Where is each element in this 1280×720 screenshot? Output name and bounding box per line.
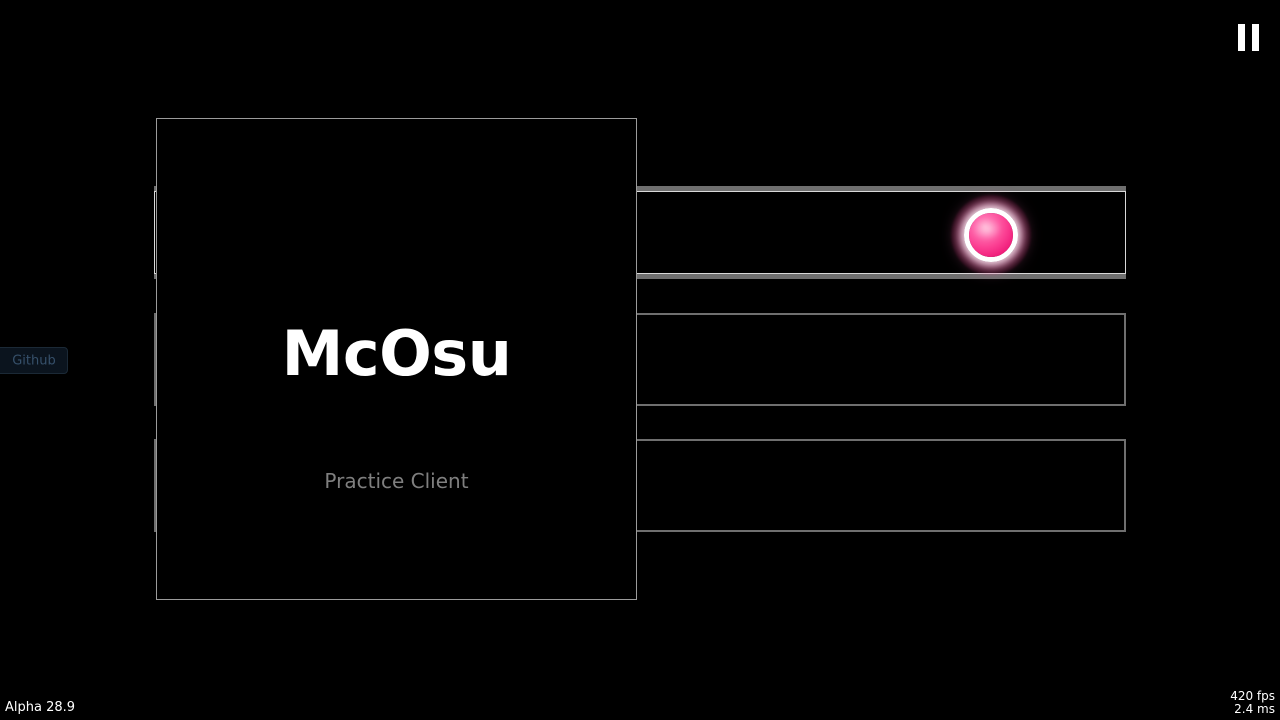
pause-icon[interactable]: [1235, 22, 1263, 52]
pause-bar-right: [1252, 24, 1259, 51]
game-screen: Play Options Exit McOsu Practice Client …: [0, 0, 1280, 720]
github-button-label: Github: [0, 354, 67, 367]
app-title: McOsu: [157, 323, 636, 385]
fps-counter: 420 fps 2.4 ms: [1230, 690, 1275, 716]
logo-panel[interactable]: McOsu Practice Client: [156, 118, 637, 600]
version-label: Alpha 28.9: [5, 701, 75, 714]
pause-bar-left: [1238, 24, 1245, 51]
app-subtitle: Practice Client: [157, 471, 636, 491]
github-button[interactable]: Github: [0, 347, 68, 374]
frametime-value: 2.4 ms: [1230, 703, 1275, 716]
